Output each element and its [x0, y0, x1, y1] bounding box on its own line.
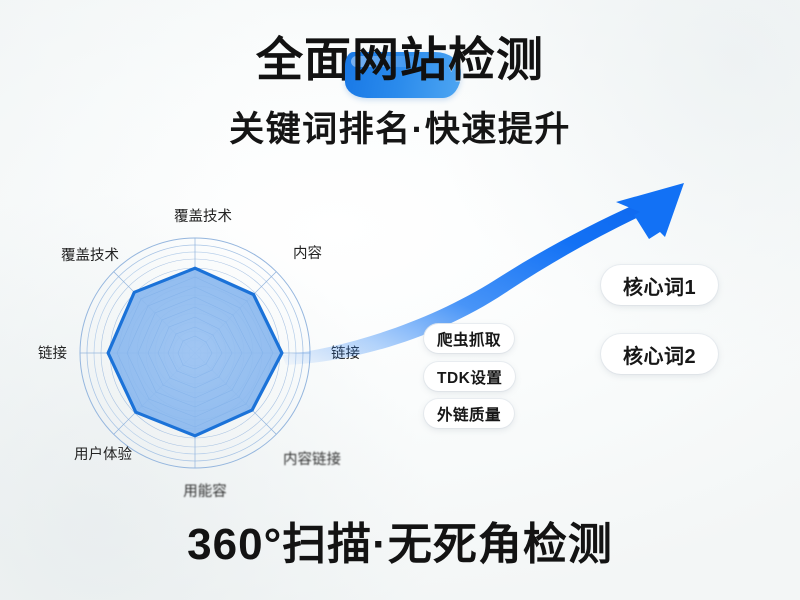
chip-tdk[interactable]: TDK设置: [424, 362, 515, 391]
radar-label-bottom-right: 内容链接: [283, 451, 341, 468]
chip-crawl[interactable]: 爬虫抓取: [424, 324, 514, 353]
headline-block: 全面网站检测 关键词排名·快速提升: [0, 32, 800, 152]
footer-headline: 360°扫描·无死角检测: [0, 508, 800, 572]
chip-keyword-2-label: 核心词2: [623, 340, 696, 369]
poster-canvas: 全面网站检测 关键词排名·快速提升: [0, 0, 800, 600]
arrow-head: [616, 183, 684, 239]
radar-label-top-left: 覆盖技术: [61, 247, 119, 264]
radar-label-right: 链接: [331, 345, 360, 362]
title-after: 检测: [448, 32, 544, 87]
chip-keyword-1-label: 核心词1: [623, 271, 696, 300]
chip-backlink-label: 外链质量: [437, 403, 501, 425]
chip-backlink[interactable]: 外链质量: [424, 399, 514, 428]
title-highlight-wrap: 网站: [352, 32, 448, 87]
chip-crawl-label: 爬虫抓取: [437, 328, 501, 350]
title-before: 全面: [256, 32, 352, 87]
title-highlight: 网站: [352, 32, 448, 87]
radar-label-bottom-left: 用户体验: [74, 446, 132, 463]
chip-tdk-label: TDK设置: [437, 366, 502, 388]
radar-label-bottom: 用能容: [183, 483, 227, 500]
radar-label-left: 链接: [38, 345, 67, 362]
page-title: 全面网站检测: [256, 32, 544, 87]
page-subtitle: 关键词排名·快速提升: [0, 101, 800, 152]
radar-label-top-right: 内容: [293, 245, 322, 262]
radar-label-top: 覆盖技术: [174, 208, 232, 225]
radar-chart: 覆盖技术 内容 链接 内容链接 用能容 用户体验 链接 覆盖技术: [35, 196, 385, 516]
chip-keyword-1[interactable]: 核心词1: [601, 265, 718, 305]
chip-keyword-2[interactable]: 核心词2: [601, 334, 718, 374]
